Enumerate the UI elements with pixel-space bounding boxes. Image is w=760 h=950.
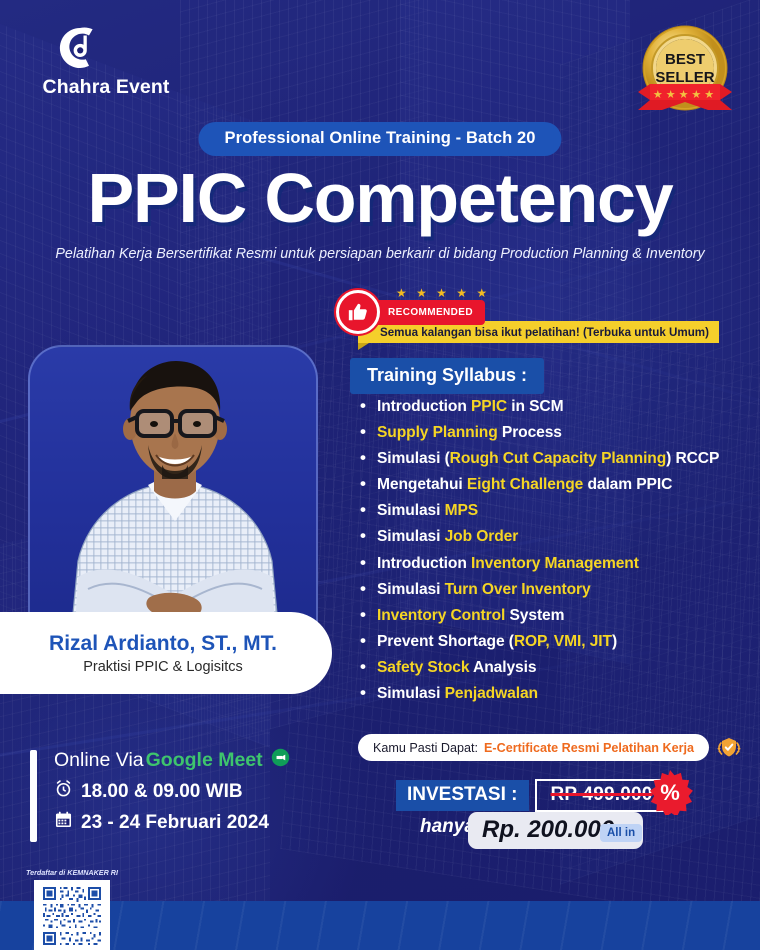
- syllabus-highlight: PPIC: [471, 398, 507, 415]
- alarm-clock-icon: [54, 779, 73, 804]
- syllabus-highlight: Supply Planning: [377, 424, 498, 441]
- syllabus-text: ): [612, 633, 617, 650]
- thumbs-up-icon: [336, 290, 380, 334]
- syllabus-item: Safety Stock Analysis: [360, 659, 750, 677]
- investment-row: INVESTASI : RP 499.000 %: [396, 779, 669, 812]
- google-meet-icon: [271, 748, 290, 773]
- syllabus-item: Simulasi (Rough Cut Capacity Planning) R…: [360, 450, 750, 468]
- speaker-name-card: Rizal Ardianto, ST., MT. Praktisi PPIC &…: [0, 612, 332, 694]
- old-price-box: RP 499.000 %: [535, 779, 669, 812]
- recommended-badge: ★ ★ ★ ★ ★ RECOMMENDED Semua kalangan bis…: [336, 286, 696, 338]
- certificate-prefix: Kamu Pasti Dapat:: [373, 741, 478, 755]
- certificate-pill: Kamu Pasti Dapat: E-Certificate Resmi Pe…: [358, 734, 709, 761]
- svg-text:%: %: [660, 780, 680, 805]
- schedule-platform-prefix: Online Via: [54, 749, 144, 772]
- page-subtitle: Pelatihan Kerja Bersertifikat Resmi untu…: [0, 246, 760, 262]
- syllabus-highlight: Inventory Control: [377, 607, 505, 624]
- certified-shield-laurel-icon: [716, 735, 742, 761]
- syllabus-item: Simulasi Turn Over Inventory: [360, 581, 750, 599]
- syllabus-highlight: Rough Cut Capacity Planning: [450, 450, 666, 467]
- syllabus-text: Simulasi: [377, 581, 445, 598]
- syllabus-text: dalam PPIC: [583, 476, 672, 493]
- speaker-photo-frame: [28, 345, 318, 645]
- syllabus-highlight: Inventory Management: [471, 555, 639, 572]
- speaker-name: Rizal Ardianto, ST., MT.: [49, 632, 277, 656]
- qr-code[interactable]: [34, 880, 110, 950]
- schedule-platform-row: Online Via Google Meet: [54, 748, 340, 773]
- all-in-badge: All in: [600, 824, 642, 842]
- syllabus-text: Analysis: [469, 659, 536, 676]
- syllabus-list: Introduction PPIC in SCMSupply Planning …: [360, 398, 750, 711]
- schedule-time-row: 18.00 & 09.00 WIB: [54, 779, 340, 804]
- syllabus-text: Simulasi: [377, 502, 445, 519]
- syllabus-highlight: ROP, VMI, JIT: [514, 633, 612, 650]
- syllabus-highlight: MPS: [445, 502, 479, 519]
- calendar-icon: [54, 810, 73, 835]
- old-price: RP 499.000: [551, 784, 653, 805]
- syllabus-text: Simulasi (: [377, 450, 450, 467]
- recommended-tag: RECOMMENDED: [362, 300, 485, 325]
- syllabus-text: System: [505, 607, 564, 624]
- poster-root: Chahra Event: [0, 0, 760, 950]
- syllabus-text: Process: [498, 424, 562, 441]
- schedule-platform: Google Meet: [146, 749, 263, 772]
- syllabus-highlight: Penjadwalan: [445, 685, 538, 702]
- investment-label: INVESTASI :: [396, 780, 529, 811]
- rating-stars: ★ ★ ★ ★ ★: [396, 286, 490, 300]
- syllabus-highlight: Turn Over Inventory: [445, 581, 591, 598]
- syllabus-item: Introduction Inventory Management: [360, 555, 750, 573]
- syllabus-highlight: Job Order: [445, 528, 519, 545]
- syllabus-item: Mengetahui Eight Challenge dalam PPIC: [360, 476, 750, 494]
- syllabus-text: Mengetahui: [377, 476, 467, 493]
- schedule-time: 18.00 & 09.00 WIB: [81, 781, 243, 803]
- syllabus-highlight: Eight Challenge: [467, 476, 583, 493]
- brand-name: Chahra Event: [26, 76, 186, 99]
- syllabus-item: Supply Planning Process: [360, 424, 750, 442]
- syllabus-item: Inventory Control System: [360, 607, 750, 625]
- syllabus-text: ) RCCP: [666, 450, 719, 467]
- syllabus-item: Simulasi Penjadwalan: [360, 685, 750, 703]
- syllabus-text: in SCM: [507, 398, 563, 415]
- schedule-block: Online Via Google Meet 18.00 & 09.00 WIB: [30, 748, 340, 841]
- kemnaker-qr-block: Terdaftar di KEMNAKER RI: [22, 868, 122, 950]
- syllabus-text: Introduction: [377, 555, 471, 572]
- syllabus-item: Simulasi Job Order: [360, 528, 750, 546]
- syllabus-text: Introduction: [377, 398, 471, 415]
- certificate-row: Kamu Pasti Dapat: E-Certificate Resmi Pe…: [358, 734, 742, 761]
- syllabus-heading: Training Syllabus :: [350, 358, 544, 394]
- speaker-portrait: [30, 345, 318, 645]
- kemnaker-label: Terdaftar di KEMNAKER RI: [22, 868, 122, 877]
- speaker-role: Praktisi PPIC & Logisitcs: [83, 659, 243, 675]
- syllabus-text: Simulasi: [377, 528, 445, 545]
- chahra-circle-logo-icon: [58, 26, 102, 70]
- schedule-date: 23 - 24 Februari 2024: [81, 812, 269, 834]
- schedule-accent-bar: [30, 750, 37, 842]
- svg-text:★★★★★: ★★★★★: [653, 89, 717, 101]
- brand-logo: Chahra Event: [26, 26, 186, 99]
- page-title: PPIC Competency: [0, 158, 760, 238]
- certificate-highlight: E-Certificate Resmi Pelatihan Kerja: [484, 741, 694, 755]
- best-seller-badge: BEST SELLER ★★★★★: [630, 22, 740, 126]
- syllabus-item: Prevent Shortage (ROP, VMI, JIT): [360, 633, 750, 651]
- best-seller-line2: SELLER: [655, 69, 714, 86]
- syllabus-item: Introduction PPIC in SCM: [360, 398, 750, 416]
- syllabus-text: Simulasi: [377, 685, 445, 702]
- percent-starburst-badge: %: [647, 769, 693, 815]
- best-seller-line1: BEST: [665, 51, 705, 68]
- schedule-date-row: 23 - 24 Februari 2024: [54, 810, 340, 835]
- syllabus-item: Simulasi MPS: [360, 502, 750, 520]
- only-label: hanya: [420, 816, 475, 838]
- syllabus-highlight: Safety Stock: [377, 659, 469, 676]
- syllabus-text: Prevent Shortage (: [377, 633, 514, 650]
- batch-pill: Professional Online Training - Batch 20: [198, 122, 561, 156]
